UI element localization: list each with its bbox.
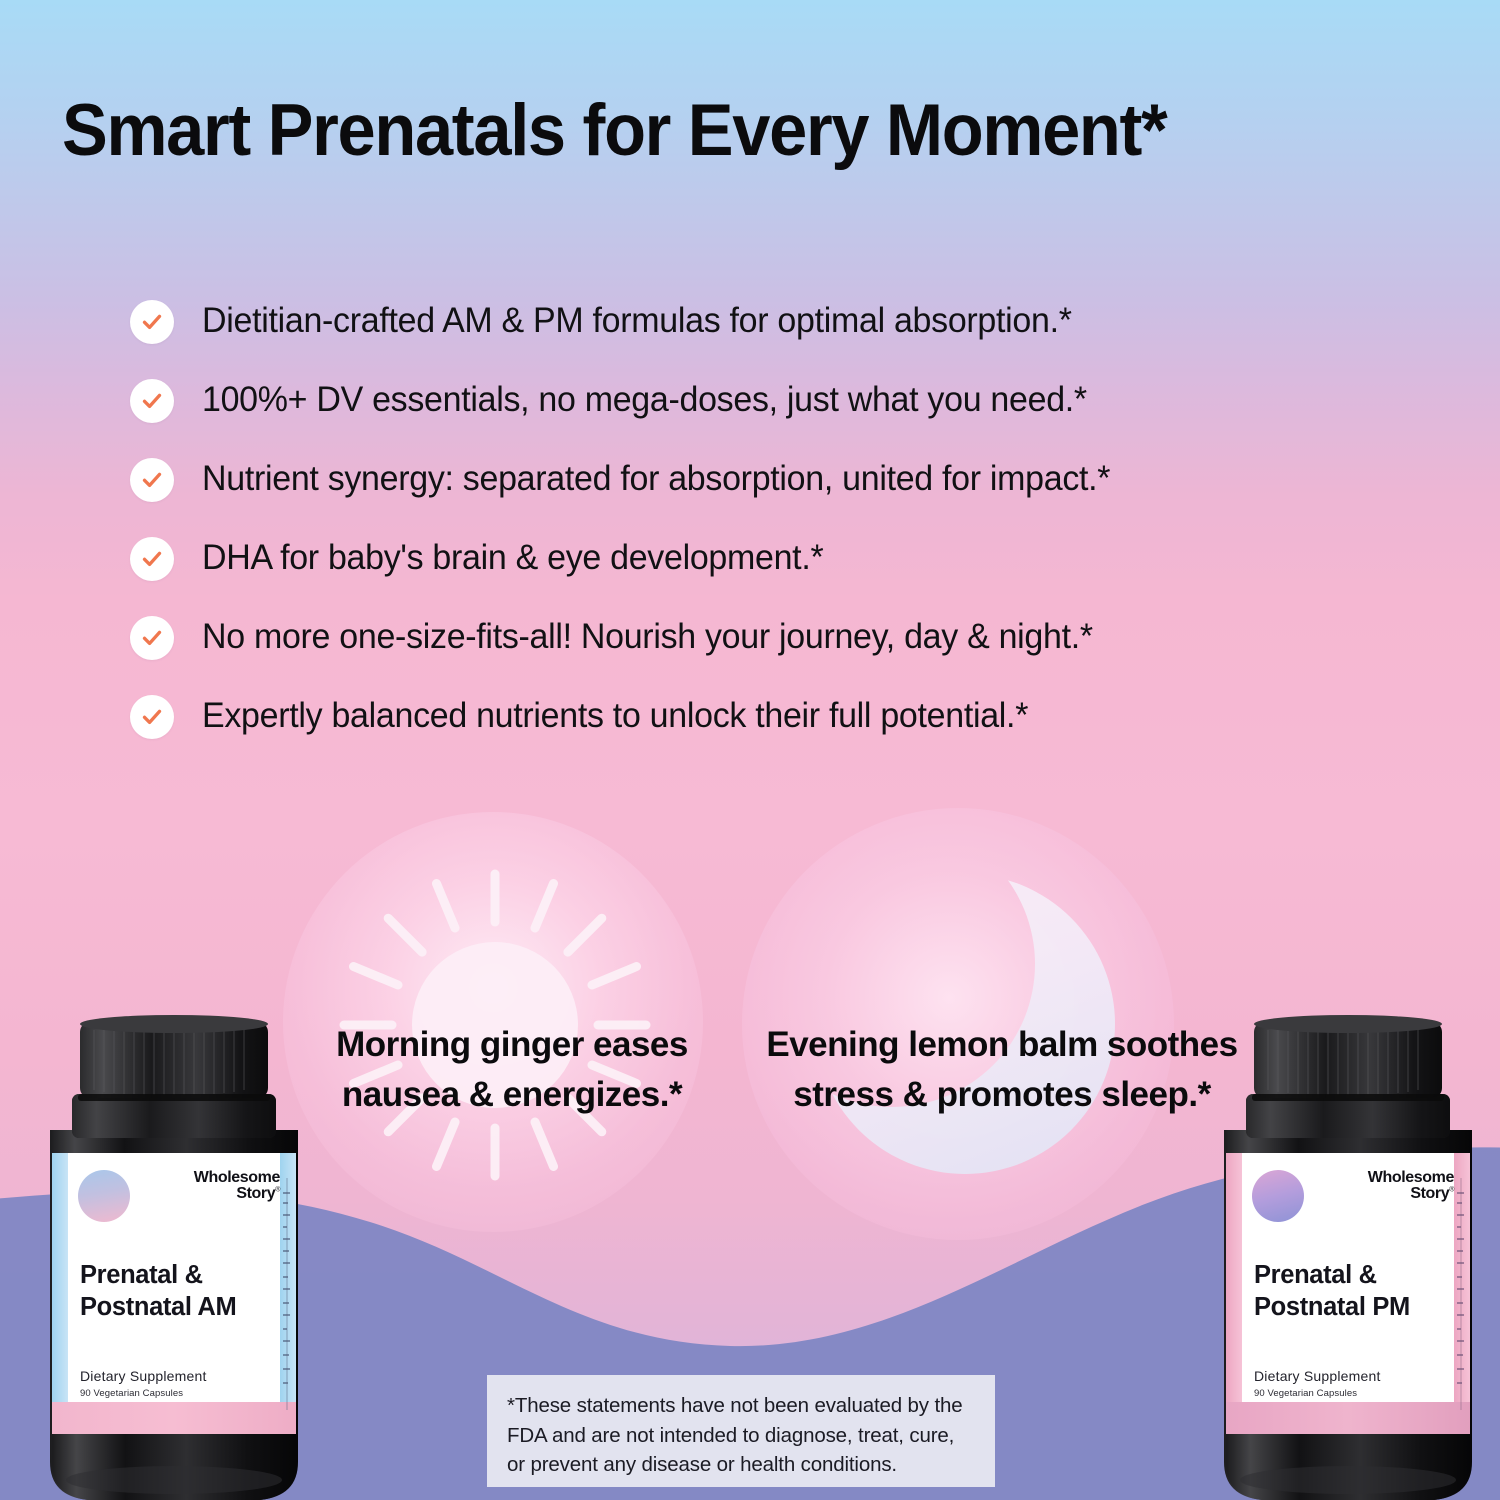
list-item-label: 100%+ DV essentials, no mega-doses, just… [202,380,1087,420]
check-icon [130,458,174,502]
benefits-list: Dietitian-crafted AM & PM formulas for o… [130,282,1420,756]
check-icon [130,300,174,344]
check-icon [130,379,174,423]
label-accent-dot [78,1170,130,1222]
product-marketing-canvas: Smart Prenatals for Every Moment* Dietit… [0,0,1500,1500]
brand-logo: Wholesome Story® [158,1170,280,1203]
list-item: No more one-size-fits-all! Nourish your … [130,598,1420,677]
product-bottle-am[interactable]: Wholesome Story® Prenatal & Postnatal AM… [38,1010,310,1500]
check-icon [130,695,174,739]
brand-logo: Wholesome Story® [1332,1170,1454,1203]
list-item: DHA for baby's brain & eye development.* [130,519,1420,598]
list-item: Expertly balanced nutrients to unlock th… [130,677,1420,756]
product-title-am: Prenatal & Postnatal AM [80,1260,280,1323]
feature-caption-morning: Morning ginger eases nausea & energizes.… [312,1020,712,1119]
list-item-label: Expertly balanced nutrients to unlock th… [202,696,1028,736]
list-item: Nutrient synergy: separated for absorpti… [130,440,1420,519]
list-item-label: Dietitian-crafted AM & PM formulas for o… [202,301,1072,341]
product-title-pm: Prenatal & Postnatal PM [1254,1260,1454,1323]
fda-disclaimer: *These statements have not been evaluate… [487,1375,995,1487]
list-item: Dietitian-crafted AM & PM formulas for o… [130,282,1420,361]
product-subtitle-pm: Dietary Supplement [1254,1368,1381,1384]
list-item-label: Nutrient synergy: separated for absorpti… [202,459,1110,499]
product-count-am: 90 Vegetarian Capsules [80,1388,183,1399]
check-icon [130,616,174,660]
product-subtitle-am: Dietary Supplement [80,1368,207,1384]
list-item-label: DHA for baby's brain & eye development.* [202,538,823,578]
check-icon [130,537,174,581]
list-item-label: No more one-size-fits-all! Nourish your … [202,617,1093,657]
product-bottle-pm[interactable]: Wholesome Story® Prenatal & Postnatal PM… [1212,1010,1484,1500]
page-title: Smart Prenatals for Every Moment* [62,93,1369,170]
list-item: 100%+ DV essentials, no mega-doses, just… [130,361,1420,440]
label-accent-dot [1252,1170,1304,1222]
feature-caption-evening: Evening lemon balm soothes stress & prom… [762,1020,1242,1119]
product-count-pm: 90 Vegetarian Capsules [1254,1388,1357,1399]
